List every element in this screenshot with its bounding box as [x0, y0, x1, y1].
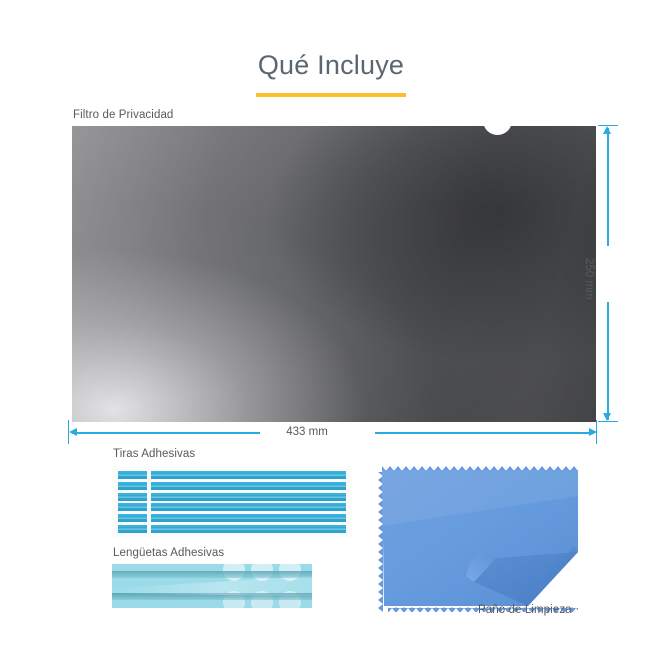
- dimension-line-horizontal-right: [375, 432, 594, 434]
- page-title: Qué Incluye: [0, 50, 662, 81]
- strip-long: [151, 493, 346, 501]
- adhesive-tabs-image: [112, 564, 312, 608]
- privacy-filter-panel: [72, 126, 596, 422]
- strip-row: [118, 482, 346, 490]
- tabs-band-top: [112, 571, 312, 578]
- width-dimension-label: 433 mm: [286, 426, 328, 438]
- strip-row: [118, 503, 346, 511]
- cleaning-cloth-svg: [378, 466, 584, 612]
- adhesive-tabs-label: Lengüetas Adhesivas: [113, 547, 224, 559]
- strip-short: [118, 471, 147, 479]
- strip-row: [118, 493, 346, 501]
- cleaning-cloth-image: [378, 466, 584, 612]
- strip-short: [118, 493, 147, 501]
- arrow-right-icon: [589, 428, 597, 436]
- dimension-line-horizontal-left: [72, 432, 260, 434]
- arrow-down-icon: [603, 413, 611, 421]
- adhesive-strips-image: [112, 466, 352, 538]
- tabs-highlight-wedge: [112, 576, 312, 596]
- strip-row: [118, 514, 346, 522]
- privacy-filter-label: Filtro de Privacidad: [73, 109, 173, 121]
- strip-short: [118, 514, 147, 522]
- adhesive-strips-label: Tiras Adhesivas: [113, 448, 195, 460]
- strip-long: [151, 525, 346, 533]
- height-dimension-label: 250 mm: [583, 258, 595, 300]
- arrow-up-icon: [603, 126, 611, 134]
- strip-long: [151, 471, 346, 479]
- strip-short: [118, 503, 147, 511]
- dimension-line-vertical-upper: [607, 128, 609, 246]
- dimension-line-vertical-lower: [607, 302, 609, 420]
- title-underline-accent: [256, 93, 406, 97]
- strip-long: [151, 514, 346, 522]
- dimension-tick-bottom: [598, 421, 618, 422]
- strip-short: [118, 525, 147, 533]
- arrow-left-icon: [69, 428, 77, 436]
- cleaning-cloth-label: Paño de Limpieza: [478, 604, 572, 616]
- privacy-filter-sheen: [72, 126, 596, 422]
- strip-row: [118, 471, 346, 479]
- strip-long: [151, 482, 346, 490]
- strip-long: [151, 503, 346, 511]
- strip-row: [118, 525, 346, 533]
- strip-short: [118, 482, 147, 490]
